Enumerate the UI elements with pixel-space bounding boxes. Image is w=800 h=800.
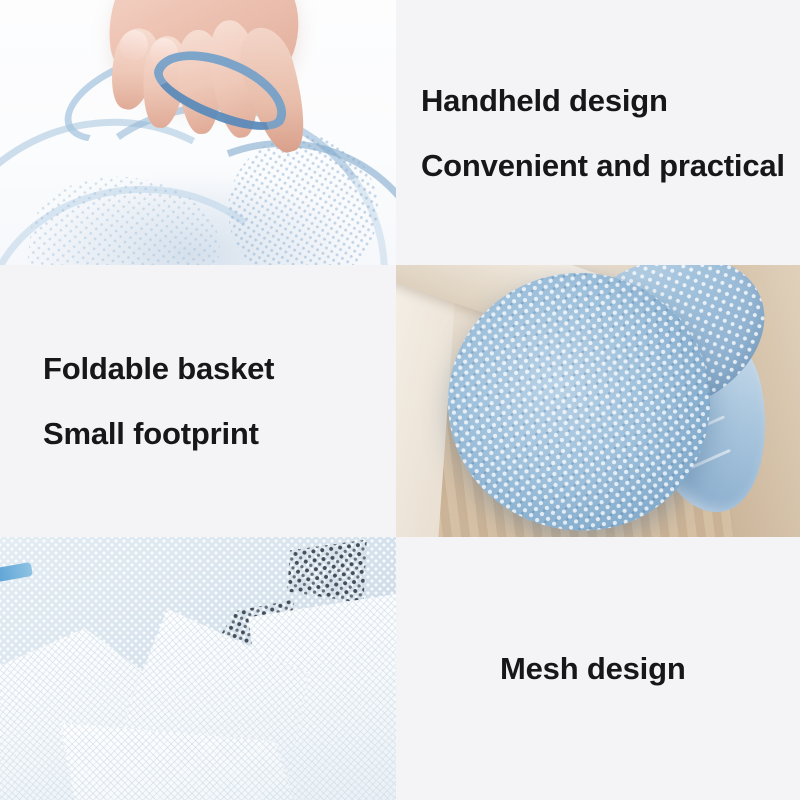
feature-heading-mesh: Mesh design xyxy=(500,653,800,684)
handheld-design-panel: Handheld design Convenient and practical xyxy=(396,0,800,265)
feature-heading-foldable: Foldable basket xyxy=(43,353,439,384)
basket-in-drawer-photo xyxy=(396,265,800,537)
feature-heading-footprint: Small footprint xyxy=(43,418,439,449)
product-feature-infographic: Handheld design Convenient and practical… xyxy=(0,0,800,800)
feature-heading-convenient: Convenient and practical xyxy=(421,150,800,181)
feature-heading-handheld: Handheld design xyxy=(421,85,800,116)
mesh-fabric-closeup-photo xyxy=(0,537,396,800)
mesh-design-panel: Mesh design xyxy=(396,537,800,800)
foldable-basket-panel: Foldable basket Small footprint xyxy=(0,265,439,537)
hand-holding-basket-photo xyxy=(0,0,396,265)
